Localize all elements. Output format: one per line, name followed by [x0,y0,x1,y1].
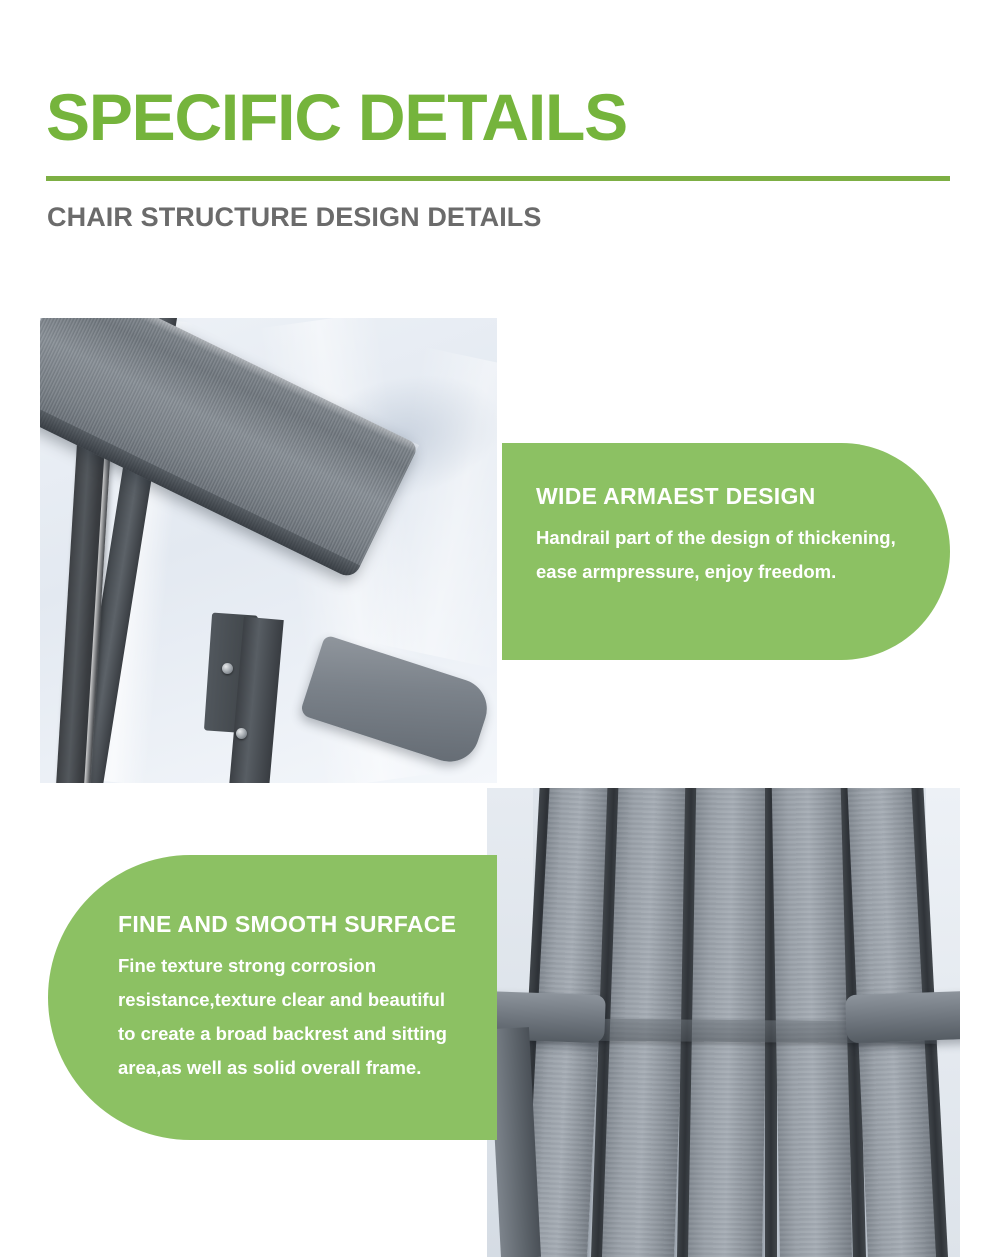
feature-callout-wide-armrest: WIDE ARMAEST DESIGN Handrail part of the… [502,443,950,660]
title-divider-rule [46,176,950,181]
callout-body: Fine texture strong corrosion resistance… [118,949,467,1085]
armrest-detail-photo [40,318,497,783]
page-title: SPECIFIC DETAILS [46,78,627,156]
feature-callout-fine-smooth-surface: FINE AND SMOOTH SURFACE Fine texture str… [48,855,497,1140]
page-subtitle: CHAIR STRUCTURE DESIGN DETAILS [47,199,542,235]
callout-title: WIDE ARMAEST DESIGN [536,481,950,511]
screw-icon [236,728,247,739]
callout-body: Handrail part of the design of thickenin… [536,521,906,589]
backrest-detail-photo [487,788,960,1257]
callout-title: FINE AND SMOOTH SURFACE [118,909,467,939]
screw-icon [222,663,233,674]
right-armrest [845,991,960,1044]
